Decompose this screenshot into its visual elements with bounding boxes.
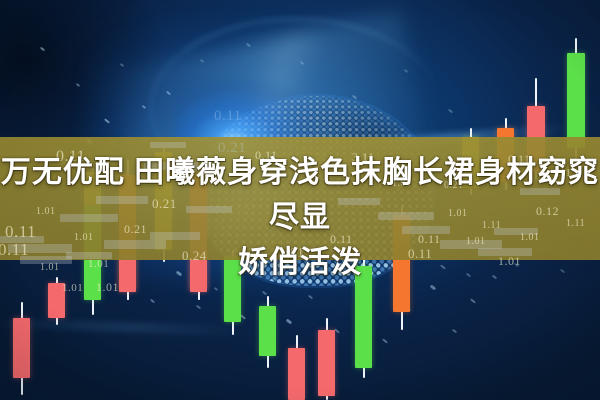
headline-line-2: 娇俏活泼 <box>0 240 600 285</box>
ticker-value: 0.11 <box>214 108 242 125</box>
banner-image: 0.110.110.111.011.011.011.010.211.010.11… <box>0 0 600 400</box>
headline-text: 万无优配 田曦薇身穿浅色抹胸长裙身材窈窕 尽显 娇俏活泼 <box>0 150 600 285</box>
headline-line-1: 万无优配 田曦薇身穿浅色抹胸长裙身材窈窕 尽显 <box>0 150 600 240</box>
